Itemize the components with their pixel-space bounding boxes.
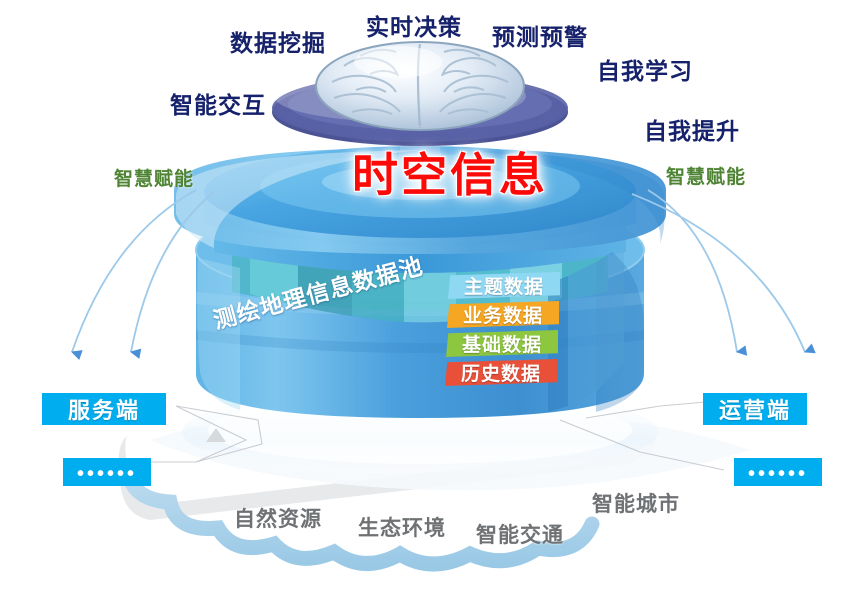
domain-label-smart-city: 智能城市: [592, 494, 680, 515]
capability-label-self-improvement: 自我提升: [644, 120, 740, 143]
endpoint-service-label: 服务端: [68, 393, 140, 425]
endpoint-service-dots: ••••••: [77, 464, 137, 484]
endpoint-operation-button[interactable]: 运营端: [703, 393, 807, 425]
capability-label-realtime-decision: 实时决策: [366, 16, 462, 39]
endpoint-operation-label: 运营端: [719, 393, 791, 425]
capability-label-data-mining: 数据挖掘: [230, 32, 326, 55]
capability-label-smart-interaction: 智能交互: [170, 94, 266, 117]
endpoint-service-button[interactable]: 服务端: [42, 393, 166, 425]
empowerment-label-left: 智慧赋能: [114, 170, 194, 189]
capability-label-self-learning: 自我学习: [597, 60, 693, 83]
data-layer-basic: 基础数据: [446, 330, 558, 357]
data-layer-history-label: 历史数据: [461, 359, 541, 386]
data-layer-business: 业务数据: [447, 301, 559, 328]
domain-label-natural-resources: 自然资源: [234, 509, 322, 530]
domain-label-smart-transport: 智能交通: [476, 525, 564, 546]
data-layer-theme-label: 主题数据: [464, 272, 544, 299]
endpoint-operation-dots: ••••••: [748, 464, 808, 484]
data-layer-history: 历史数据: [445, 359, 557, 386]
empowerment-label-right: 智慧赋能: [666, 168, 746, 187]
data-layer-theme: 主题数据: [448, 272, 560, 299]
domain-label-ecology: 生态环境: [358, 518, 446, 539]
diagram-graphics: [0, 0, 850, 591]
capability-label-forecast-alert: 预测预警: [492, 26, 588, 49]
endpoint-operation-placeholder[interactable]: ••••••: [734, 458, 822, 486]
endpoint-service-placeholder[interactable]: ••••••: [63, 458, 151, 486]
data-layer-business-label: 业务数据: [463, 301, 543, 328]
page-title: 时空信息: [352, 152, 548, 198]
infographic-canvas: 数据挖掘 实时决策 预测预警 自我学习 智能交互 自我提升 智慧赋能 智慧赋能 …: [0, 0, 850, 591]
data-layer-basic-label: 基础数据: [462, 330, 542, 357]
brain-icon: [316, 42, 524, 130]
